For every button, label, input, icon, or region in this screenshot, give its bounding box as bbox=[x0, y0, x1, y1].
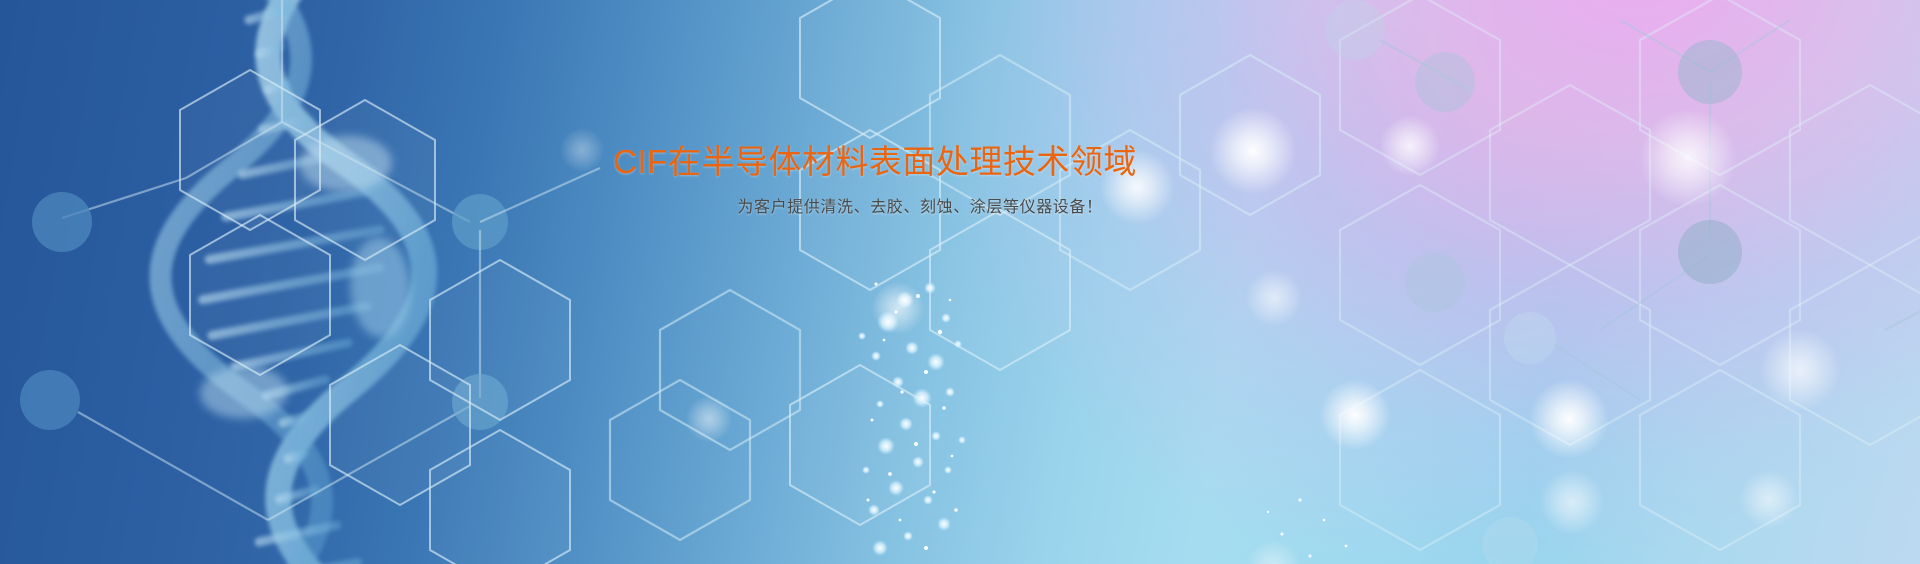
hero-banner: .hx { fill:none; stroke:#d5ecf6; stroke-… bbox=[0, 0, 1920, 564]
banner-text-block: CIF在半导体材料表面处理技术领域 为客户提供清洗、去胶、刻蚀、涂层等仪器设备！ bbox=[470, 140, 1280, 221]
banner-subtitle: 为客户提供清洗、去胶、刻蚀、涂层等仪器设备！ bbox=[560, 195, 1280, 221]
banner-headline: CIF在半导体材料表面处理技术领域 bbox=[470, 140, 1280, 184]
dna-helix-graphic bbox=[39, 0, 581, 564]
